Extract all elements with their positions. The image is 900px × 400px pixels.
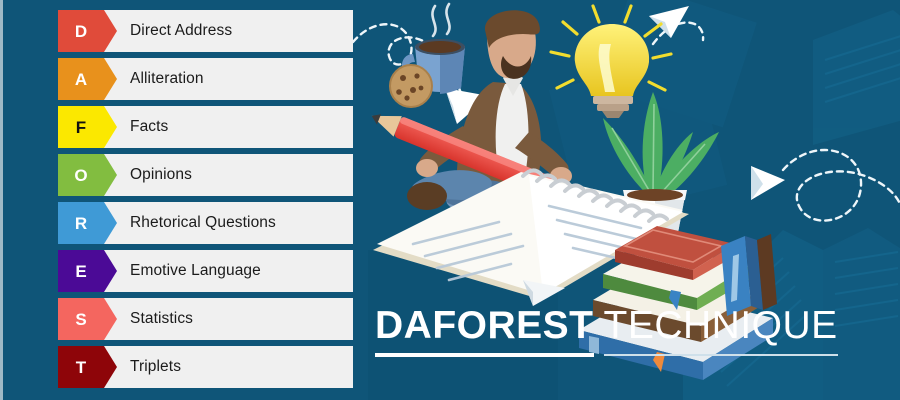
acronym-row[interactable]: AAlliteration [58,58,353,100]
acronym-label: Opinions [104,154,353,196]
daforest-banner: DDirect AddressAAlliterationFFactsOOpini… [0,0,900,400]
acronym-label: Emotive Language [104,250,353,292]
acronym-letter: O [74,167,87,184]
acronym-letter: A [75,71,87,88]
cookie-icon [390,65,432,107]
acronym-label: Facts [104,106,353,148]
acronym-letter-badge: E [58,250,104,292]
acronym-letter: S [75,311,86,328]
acronym-letter-badge: T [58,346,104,388]
acronym-row[interactable]: FFacts [58,106,353,148]
acronym-letter: R [75,215,87,232]
acronym-label: Alliteration [104,58,353,100]
acronym-letter-badge: A [58,58,104,100]
acronym-letter: F [76,119,86,136]
title-bold-word: DAFOREST [375,306,594,357]
acronym-letter-badge: S [58,298,104,340]
acronym-label: Direct Address [104,10,353,52]
acronym-letter-badge: R [58,202,104,244]
acronym-row[interactable]: DDirect Address [58,10,353,52]
acronym-row[interactable]: OOpinions [58,154,353,196]
acronym-label: Triplets [104,346,353,388]
acronym-list: DDirect AddressAAlliterationFFactsOOpini… [58,10,353,392]
paper-plane-right [751,166,785,200]
banner-title: DAFOREST TECHNIQUE [375,306,875,357]
acronym-letter-badge: F [58,106,104,148]
acronym-row[interactable]: TTriplets [58,346,353,388]
acronym-letter: D [75,23,87,40]
acronym-row[interactable]: EEmotive Language [58,250,353,292]
acronym-label: Rhetorical Questions [104,202,353,244]
acronym-letter-badge: D [58,10,104,52]
acronym-label: Statistics [104,298,353,340]
title-light-word: TECHNIQUE [604,306,838,356]
acronym-letter: E [75,263,86,280]
acronym-letter-badge: O [58,154,104,196]
acronym-letter: T [76,359,86,376]
open-book-silhouette-top [813,10,900,145]
acronym-row[interactable]: SStatistics [58,298,353,340]
dashed-trail-right [783,150,900,221]
acronym-row[interactable]: RRhetorical Questions [58,202,353,244]
